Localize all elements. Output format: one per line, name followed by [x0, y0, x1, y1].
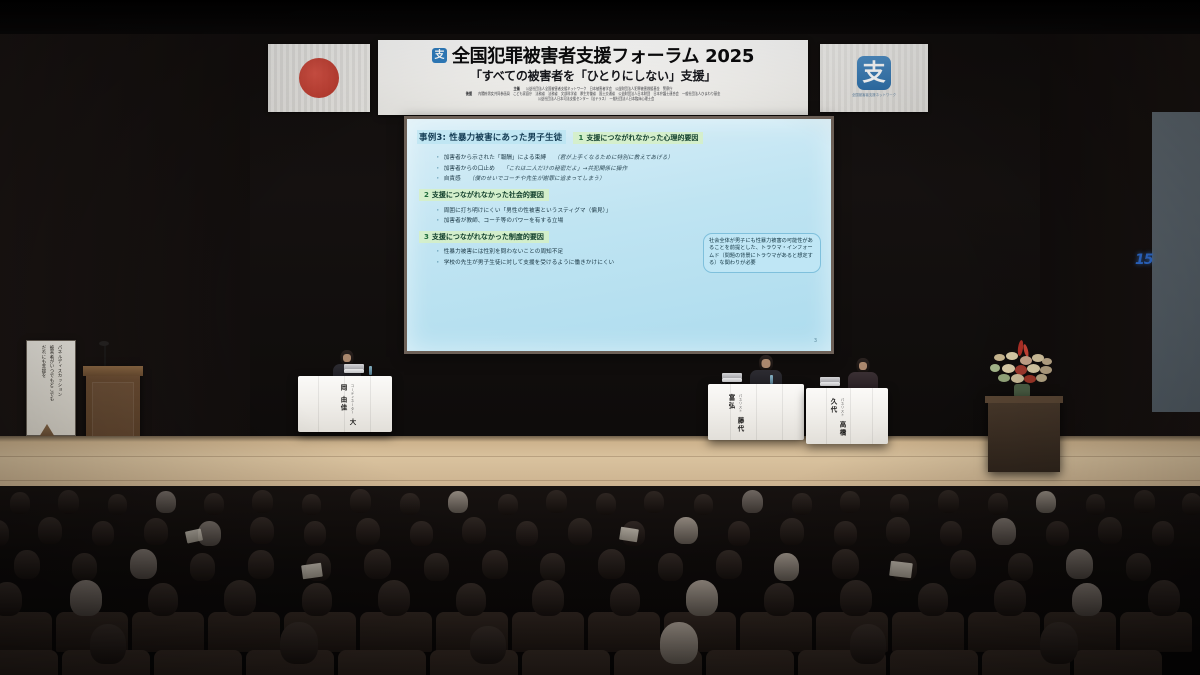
- hinomaru-sun-icon: [299, 58, 339, 98]
- bullet-dot-icon: ・: [435, 249, 441, 255]
- flower-arrangement: [984, 338, 1064, 400]
- water-bottle: [770, 375, 773, 384]
- nameplate-title: パネリスト: [840, 398, 844, 417]
- banner-title: 全国犯罪被害者支援フォーラム 2025: [452, 42, 754, 68]
- bullet-quote: （君が上手くなるために特別に教えてあげる）: [554, 155, 673, 161]
- bullet-quote: 「これは二人だけの秘密だよ」→共犯関係に操作: [503, 166, 627, 172]
- slide-bullet: ・加害者が教師、コーチ等のパワーを有する立場: [435, 216, 825, 224]
- podium-front-panel: [92, 382, 134, 438]
- section-heading-text: 支援につながれなかった心理的要因: [586, 134, 698, 142]
- side-display-panel: [1152, 112, 1200, 412]
- session-signboard: パネルディスカッション 被害者がいつでもどこでも だれにも支援を: [26, 340, 76, 436]
- banner-subtitle: 「すべての被害者を「ひとりにしない」支援」: [378, 67, 808, 84]
- section-number: 1: [578, 134, 583, 142]
- slide-section-heading: 2支援につながれなかった社会的要因: [419, 189, 549, 201]
- section-number: 3: [424, 233, 429, 241]
- nameplate-right: パネリスト 高橋 久代: [828, 398, 846, 444]
- laptop-left: [344, 369, 364, 373]
- panelist-face: [762, 359, 771, 368]
- bullet-dot-icon: ・: [435, 155, 441, 161]
- bullet-quote: （僕のせいでコーチや先生が謝罪に追まってしまう）: [469, 176, 605, 182]
- support-mark-icon: 支: [432, 48, 447, 63]
- signboard-line: だれにも支援を: [40, 345, 46, 431]
- flower-pedestal: [988, 396, 1060, 472]
- slide-bullet: ・加害者からの口止め「これは二人だけの秘密だよ」→共犯関係に操作: [435, 164, 825, 172]
- bullet-text: 学校の先生が男子生徒に対して支援を受けるように働きかけにくい: [444, 260, 615, 266]
- laptop-center: [722, 378, 742, 382]
- slide-section-heading: 3支援につながれなかった制度的要因: [419, 231, 549, 243]
- bullet-text: 自責感: [444, 176, 461, 182]
- banner-row: 支 全国犯罪被害者支援フォーラム 2025 「すべての被害者を「ひとりにしない」…: [268, 40, 928, 118]
- bullet-dot-icon: ・: [435, 176, 441, 182]
- japan-flag: [268, 44, 370, 112]
- auditorium-scene: 15 支 全国犯罪被害者支援フォーラム 2025 「すべての被害者を「ひとりにし…: [0, 0, 1200, 675]
- ceiling-strip: [0, 0, 1200, 34]
- slide-callout: 社会全体が男子にも性暴力被害の可能性があることを前提とした、トラウマ・インフォー…: [703, 233, 821, 273]
- bullet-text: 加害者から示された「報酬」による束縛: [444, 155, 546, 161]
- panelist-table-1: パネリスト 藤代 富弘: [708, 384, 804, 440]
- audience-area: [0, 486, 1200, 675]
- panelist-table-2: パネリスト 高橋 久代: [806, 388, 888, 444]
- slide-section-heading: 1支援につながれなかった心理的要因: [573, 132, 703, 144]
- organization-banner: 支 全国被害者支援ネットワーク: [820, 44, 928, 112]
- bullet-dot-icon: ・: [435, 218, 441, 224]
- organization-name: 全国被害者支援ネットワーク: [852, 92, 896, 97]
- section-heading-text: 支援につながれなかった社会的要因: [432, 191, 544, 199]
- slide-content: 事例3: 性暴力被害にあった男子生徒 1支援につながれなかった心理的要因 ・加害…: [417, 125, 825, 347]
- banner-fine-print: 主催 公益社団法人全国被害者支援ネットワーク 日本被害者学会 公益財団法人犯罪被…: [378, 87, 808, 102]
- signboard-line: パネルディスカッション: [56, 345, 62, 431]
- water-bottle: [369, 366, 372, 375]
- nameplate-center: パネリスト 藤代 富弘: [726, 394, 744, 440]
- bullet-text: 性暴力被害には性別を問わないことの周知不足: [444, 249, 564, 255]
- fine-print-row: 公益社団法人日本司法支援センター（法テラス） 一般社団法人日本臨床心理士会: [386, 96, 800, 102]
- moderator-table: コーディネーター 大岡 由佳: [298, 376, 392, 432]
- section-heading-text: 支援につながれなかった制度的要因: [432, 233, 544, 241]
- slide-bullet: ・周囲に打ち明けにくい「男性の性被害というスティグマ（偏見）」: [435, 206, 825, 214]
- bullet-text: 加害者からの口止め: [444, 166, 495, 172]
- slide-bullet: ・加害者から示された「報酬」による束縛（君が上手くなるために特別に教えてあげる）: [435, 153, 825, 161]
- bullet-dot-icon: ・: [435, 260, 441, 266]
- banner-title-line: 支 全国犯罪被害者支援フォーラム 2025: [378, 44, 808, 66]
- podium-top: [83, 366, 143, 376]
- panelist-face: [343, 354, 351, 362]
- laptop-right: [820, 382, 840, 386]
- projection-screen: 事例3: 性暴力被害にあった男子生徒 1支援につながれなかった心理的要因 ・加害…: [404, 116, 834, 354]
- section-number: 2: [424, 191, 429, 199]
- support-mark-icon: 支: [857, 56, 891, 90]
- side-digit-readout: 15: [1135, 252, 1152, 268]
- fine-print-text: 公益社団法人日本司法支援センター（法テラス） 一般社団法人日本臨床心理士会: [538, 96, 654, 102]
- slide-title: 事例3: 性暴力被害にあった男子生徒: [417, 130, 566, 144]
- forum-banner: 支 全国犯罪被害者支援フォーラム 2025 「すべての被害者を「ひとりにしない」…: [378, 40, 808, 115]
- nameplate-title: コーディネーター: [350, 384, 354, 414]
- laptop-lid: [722, 373, 742, 378]
- slide-page-number: 3: [814, 338, 817, 344]
- laptop-lid: [820, 377, 840, 382]
- bullet-text: 加害者が教師、コーチ等のパワーを有する立場: [444, 218, 564, 224]
- nameplate-left: コーディネーター 大岡 由佳: [338, 384, 356, 432]
- slide-bullet: ・自責感（僕のせいでコーチや先生が謝罪に追まってしまう）: [435, 174, 825, 182]
- nameplate-title: パネリスト: [738, 394, 742, 413]
- bullet-dot-icon: ・: [435, 208, 441, 214]
- presentation-slide: 事例3: 性暴力被害にあった男子生徒 1支援につながれなかった心理的要因 ・加害…: [407, 119, 831, 351]
- bullet-text: 周囲に打ち明けにくい「男性の性被害というスティグマ（偏見）」: [444, 208, 612, 214]
- laptop-lid: [344, 364, 364, 369]
- podium: [86, 366, 140, 444]
- signboard-line: 被害者がいつでもどこでも: [48, 345, 54, 431]
- bullet-dot-icon: ・: [435, 166, 441, 172]
- panelist-face: [859, 362, 867, 370]
